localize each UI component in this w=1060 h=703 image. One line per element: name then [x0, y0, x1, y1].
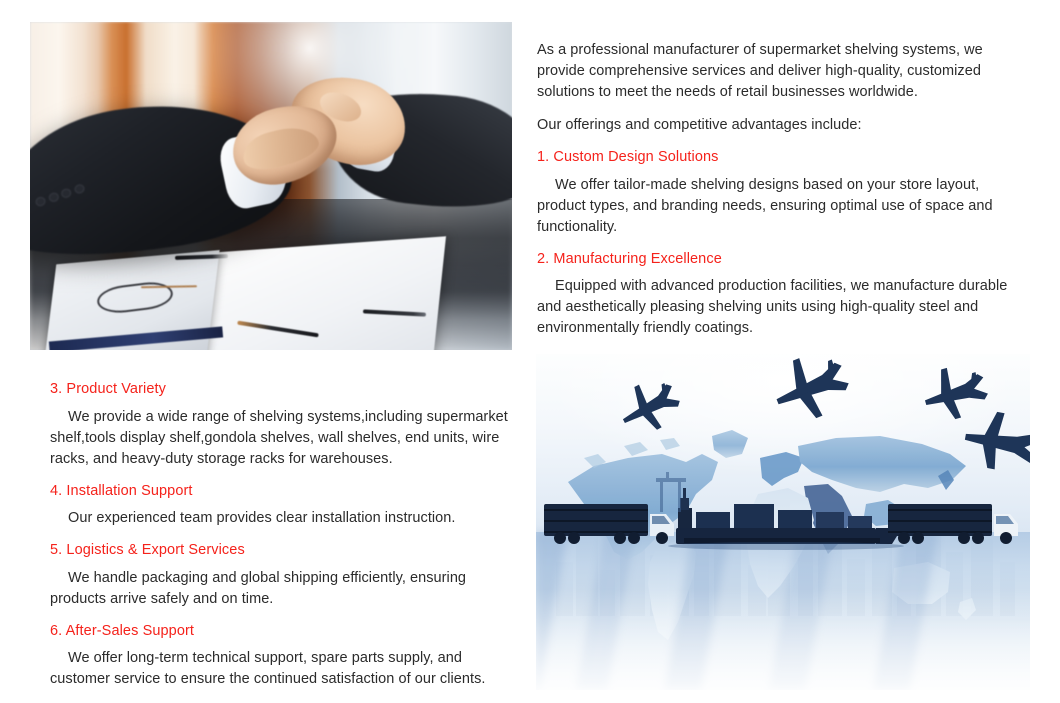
section-body-4: Our experienced team provides clear inst… — [50, 508, 512, 529]
section-heading-3: 3. Product Variety — [50, 380, 512, 400]
airplane-icon — [961, 407, 1030, 476]
offerings-lead: Our offerings and competitive advantages… — [537, 115, 1015, 136]
section-heading-5: 5. Logistics & Export Services — [50, 541, 512, 561]
intro-paragraph: As a professional manufacturer of superm… — [537, 40, 1015, 103]
airplane-icon — [918, 359, 992, 426]
logistics-photo — [536, 354, 1030, 690]
section-heading-6: 6. After-Sales Support — [50, 622, 512, 642]
section-body-2: Equipped with advanced production facili… — [537, 276, 1015, 339]
section-heading-1: 1. Custom Design Solutions — [537, 148, 1015, 168]
section-body-1: We offer tailor-made shelving designs ba… — [537, 175, 1015, 238]
section-body-3: We provide a wide range of shelving syst… — [50, 407, 512, 470]
sleeve-buttons — [35, 185, 86, 208]
airplane-icon — [765, 354, 856, 429]
services-details-block: 3. Product Variety We provide a wide ran… — [50, 380, 512, 702]
section-heading-4: 4. Installation Support — [50, 482, 512, 502]
section-heading-2: 2. Manufacturing Excellence — [537, 250, 1015, 270]
section-body-6: We offer long-term technical support, sp… — [50, 648, 512, 690]
airplane-icon — [612, 371, 687, 441]
section-body-5: We handle packaging and global shipping … — [50, 568, 512, 610]
handshake-photo — [30, 22, 512, 350]
logistics-foreground-haze — [536, 589, 1030, 690]
truck-icon — [544, 504, 674, 544]
desk-paper — [201, 236, 446, 350]
truck-icon — [888, 504, 1018, 544]
container-ship-icon — [668, 488, 904, 550]
services-intro-block: As a professional manufacturer of superm… — [537, 40, 1015, 351]
page-root: As a professional manufacturer of superm… — [0, 0, 1060, 703]
